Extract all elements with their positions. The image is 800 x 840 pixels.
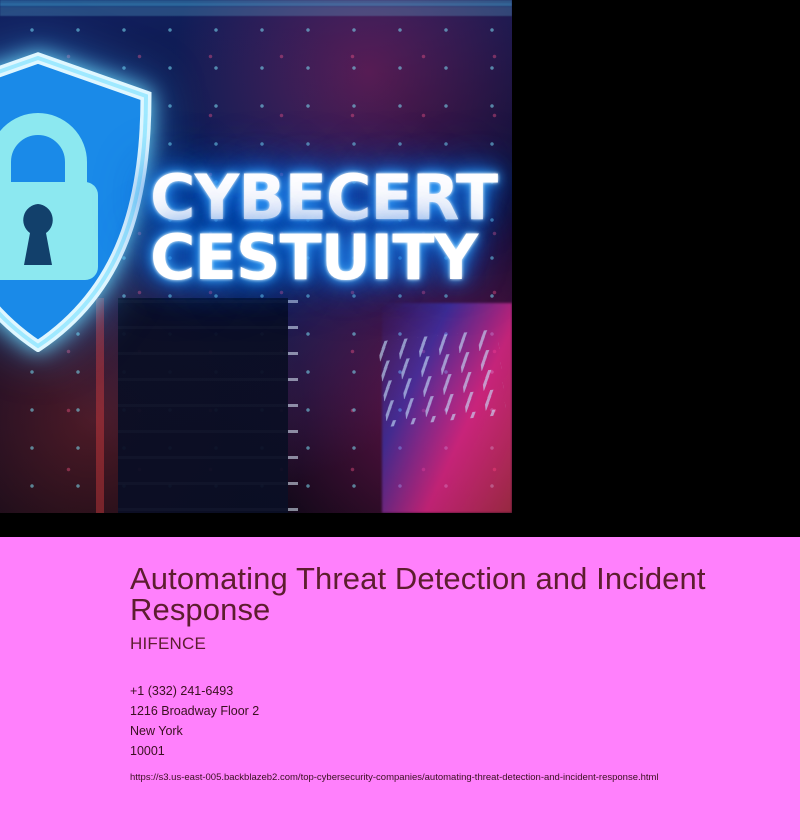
contact-city: New York [130, 721, 770, 741]
info-panel-content: Automating Threat Detection and Incident… [130, 563, 770, 784]
info-panel: Automating Threat Detection and Incident… [0, 537, 800, 840]
contact-block: +1 (332) 241-6493 1216 Broadway Floor 2 … [130, 681, 770, 761]
contact-street: 1216 Broadway Floor 2 [130, 701, 770, 721]
shield-icon [0, 52, 154, 352]
shield-graphic [0, 52, 154, 352]
hero-neon-line-2: CESTUITY [150, 228, 512, 288]
page-title: Automating Threat Detection and Incident… [130, 563, 770, 625]
source-url[interactable]: https://s3.us-east-005.backblazeb2.com/t… [130, 772, 770, 784]
contact-phone: +1 (332) 241-6493 [130, 681, 770, 701]
hero-neon-heading: CYBECERT CESTUITY [150, 168, 512, 287]
neon-streaks [378, 329, 506, 427]
hero-image: CYBECERT CESTUITY [0, 0, 512, 513]
company-name: HIFENCE [130, 634, 770, 654]
contact-postal-code: 10001 [130, 741, 770, 761]
